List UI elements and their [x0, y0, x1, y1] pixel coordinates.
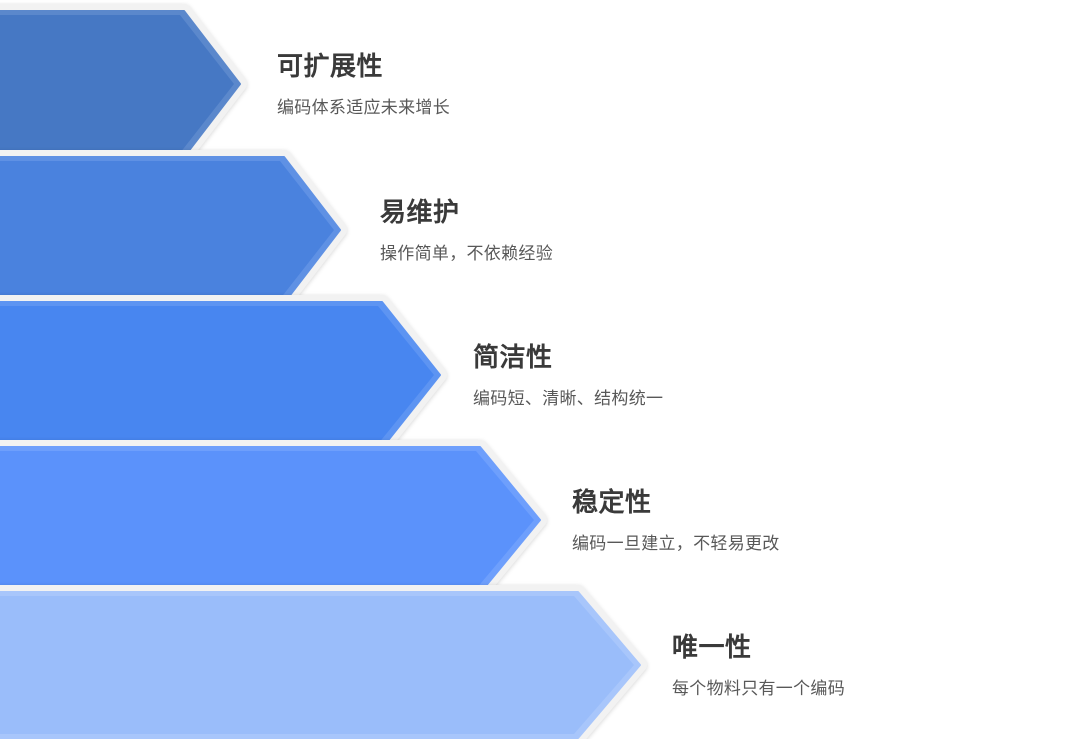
chevron-arrow-shape[interactable]: [0, 447, 540, 593]
chevron-arrow-shape[interactable]: [0, 592, 640, 738]
funnel-row[interactable]: 唯一性每个物料只有一个编码: [0, 592, 1068, 738]
chevron-arrow-shape[interactable]: [0, 11, 240, 157]
funnel-item-title: 简洁性: [473, 342, 663, 373]
funnel-item-description: 编码体系适应未来增长: [277, 98, 450, 118]
funnel-item-title: 易维护: [380, 197, 553, 228]
chevron-arrow-shape[interactable]: [0, 302, 440, 448]
funnel-diagram-canvas: 可扩展性编码体系适应未来增长易维护操作简单，不依赖经验简洁性编码短、清晰、结构统…: [0, 0, 1068, 739]
funnel-item-description: 编码一旦建立，不轻易更改: [572, 534, 780, 554]
chevron-fill: [0, 451, 534, 589]
funnel-item-title: 稳定性: [572, 487, 780, 518]
funnel-text-block: 稳定性编码一旦建立，不轻易更改: [572, 447, 780, 593]
funnel-item-description: 每个物料只有一个编码: [672, 679, 845, 699]
chevron-fill: [0, 306, 434, 444]
funnel-row[interactable]: 可扩展性编码体系适应未来增长: [0, 11, 1068, 157]
funnel-item-description: 编码短、清晰、结构统一: [473, 389, 663, 409]
chevron-arrow-svg: [0, 447, 540, 593]
funnel-row[interactable]: 易维护操作简单，不依赖经验: [0, 157, 1068, 303]
chevron-fill: [0, 596, 634, 734]
funnel-row[interactable]: 简洁性编码短、清晰、结构统一: [0, 302, 1068, 448]
chevron-arrow-shape[interactable]: [0, 157, 340, 303]
chevron-fill: [0, 161, 334, 299]
chevron-arrow-svg: [0, 11, 240, 157]
funnel-item-description: 操作简单，不依赖经验: [380, 244, 553, 264]
funnel-item-title: 唯一性: [672, 632, 845, 663]
funnel-text-block: 唯一性每个物料只有一个编码: [672, 592, 845, 738]
funnel-text-block: 可扩展性编码体系适应未来增长: [277, 11, 450, 157]
chevron-arrow-svg: [0, 157, 340, 303]
funnel-text-block: 易维护操作简单，不依赖经验: [380, 157, 553, 303]
funnel-text-block: 简洁性编码短、清晰、结构统一: [473, 302, 663, 448]
funnel-item-title: 可扩展性: [277, 51, 450, 82]
chevron-arrow-svg: [0, 302, 440, 448]
chevron-arrow-svg: [0, 592, 640, 738]
funnel-row[interactable]: 稳定性编码一旦建立，不轻易更改: [0, 447, 1068, 593]
